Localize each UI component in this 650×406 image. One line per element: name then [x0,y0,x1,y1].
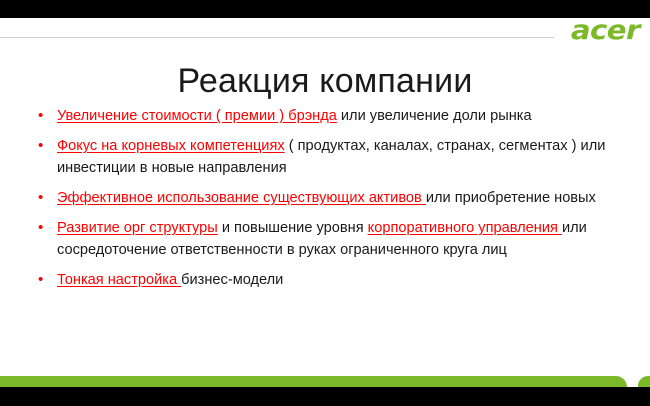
bullet-text: Фокус на корневых компетенциях ( продукт… [57,135,626,179]
bullet-text: Тонкая настройка бизнес-модели [57,269,626,291]
bullet-text: Увеличение стоимости ( премии ) брэнда и… [57,105,626,127]
highlighted-phrase: корпоративного управления [368,220,562,236]
highlighted-phrase: Развитие орг структуры [57,220,218,236]
plain-phrase: или приобретение новых [426,190,596,206]
acer-logo: acer [571,17,640,44]
highlighted-phrase: Эффективное использование существующих а… [57,190,426,206]
bottom-green-bar [0,376,627,387]
bullet-dot-icon: • [34,135,57,157]
bullet-item: •Тонкая настройка бизнес-модели [34,269,626,291]
bullet-dot-icon: • [34,217,57,239]
bullet-dot-icon: • [34,105,57,127]
bullet-list: •Увеличение стоимости ( премии ) брэнда … [34,105,626,299]
bullet-dot-icon: • [34,269,57,291]
bottom-green-bar-tab [638,376,650,387]
bullet-item: •Фокус на корневых компетенциях ( продук… [34,135,626,179]
page-title: Реакция компании [0,61,650,102]
plain-phrase: или увеличение доли рынка [337,108,532,124]
bullet-text: Эффективное использование существующих а… [57,187,626,209]
highlighted-phrase: Увеличение стоимости ( премии ) брэнда [57,108,337,124]
bullet-item: •Развитие орг структуры и повышение уров… [34,217,626,261]
header-divider-rule [0,37,554,38]
bullet-item: •Увеличение стоимости ( премии ) брэнда … [34,105,626,127]
plain-phrase: бизнес-модели [181,272,283,288]
bullet-dot-icon: • [34,187,57,209]
top-black-band [0,0,650,18]
highlighted-phrase: Тонкая настройка [57,272,181,288]
bullet-text: Развитие орг структуры и повышение уровн… [57,217,626,261]
highlighted-phrase: Фокус на корневых компетенциях [57,138,285,154]
bottom-black-band [0,387,650,406]
bullet-item: •Эффективное использование существующих … [34,187,626,209]
plain-phrase: и повышение уровня [218,220,368,236]
